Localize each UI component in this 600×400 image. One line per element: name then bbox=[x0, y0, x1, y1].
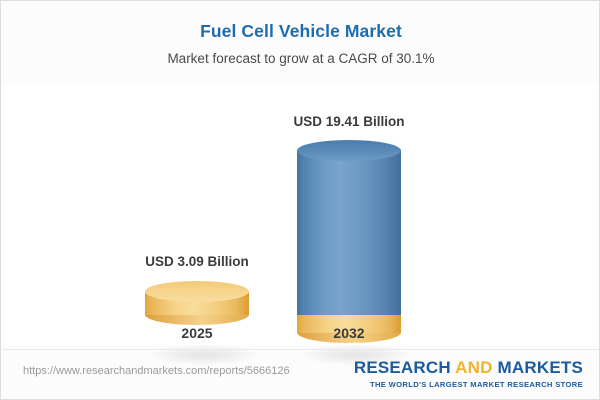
logo-tagline: THE WORLD'S LARGEST MARKET RESEARCH STOR… bbox=[354, 380, 583, 389]
chart-plot-area: USD 3.09 Billion 2025 USD 19.41 Billion … bbox=[2, 83, 600, 345]
bar-value-label-2025: USD 3.09 Billion bbox=[112, 254, 282, 269]
research-and-markets-logo[interactable]: RESEARCH AND MARKETS THE WORLD'S LARGEST… bbox=[354, 358, 583, 389]
bar-cylinder-2032[interactable] bbox=[297, 140, 401, 305]
logo-wordmark: RESEARCH AND MARKETS bbox=[354, 358, 583, 378]
report-url-link[interactable]: https://www.researchandmarkets.com/repor… bbox=[23, 365, 290, 377]
cylinder-top-ellipse bbox=[145, 281, 249, 302]
chart-subtitle: Market forecast to grow at a CAGR of 30.… bbox=[1, 51, 600, 66]
footer: https://www.researchandmarkets.com/repor… bbox=[1, 350, 600, 400]
cylinder-body bbox=[297, 150, 401, 315]
bar-value-label-2032: USD 19.41 Billion bbox=[264, 114, 434, 129]
cylinder-top-ellipse bbox=[297, 140, 401, 161]
category-label-2025: 2025 bbox=[112, 325, 282, 341]
logo-word-research: RESEARCH bbox=[354, 358, 451, 377]
infographic-chart-card: Fuel Cell Vehicle Market Market forecast… bbox=[0, 0, 600, 400]
page-title: Fuel Cell Vehicle Market bbox=[1, 21, 600, 42]
logo-word-markets: MARKETS bbox=[498, 358, 583, 377]
category-label-2032: 2032 bbox=[264, 325, 434, 341]
bar-cylinder-2025[interactable] bbox=[145, 281, 249, 305]
logo-word-and: AND bbox=[455, 358, 492, 377]
chart-header: Fuel Cell Vehicle Market Market forecast… bbox=[1, 1, 600, 66]
